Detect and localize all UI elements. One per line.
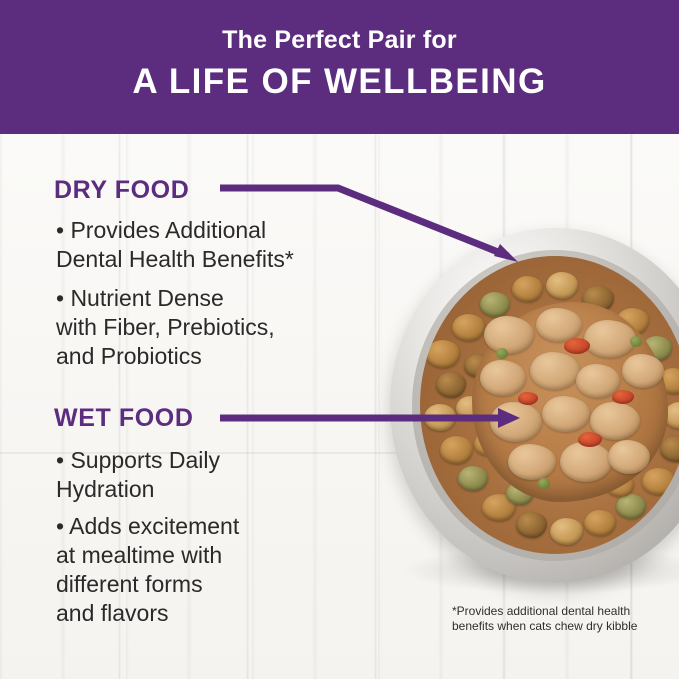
wet-food-chunk [536,308,582,342]
header-subtitle: The Perfect Pair for [0,26,679,55]
wet-food-chunk [542,396,590,432]
pea-piece [496,348,508,359]
pea-piece [538,478,550,489]
wet-food-chunk [484,316,534,354]
kibble-piece [426,340,460,368]
kibble-piece [436,372,466,398]
kibble-piece [458,466,488,491]
kibble-piece [660,436,679,462]
wet-food-chunk [508,444,556,480]
wet-food-chunk [584,320,636,358]
wet-food-chunk [530,352,580,390]
kibble-piece [642,468,675,495]
header-banner: The Perfect Pair for A LIFE OF WELLBEING [0,0,679,134]
product-infographic: The Perfect Pair for A LIFE OF WELLBEING [0,0,679,679]
footnote-text: *Provides additional dental health benef… [452,604,662,634]
wet-food-heading: WET FOOD [54,404,194,433]
header-title: A LIFE OF WELLBEING [0,62,679,102]
kibble-piece [512,276,543,302]
kibble-piece [584,510,616,536]
wet-food-arrow-icon [218,400,528,440]
kibble-piece [452,314,485,341]
carrot-piece [564,338,590,354]
carrot-piece [612,390,634,404]
wet-food-chunk [560,442,612,482]
wet-food-bullet-1: • Supports Daily Hydration [56,446,386,504]
wet-food-bullet-2: • Adds excitement at mealtime with diffe… [56,512,386,628]
pea-piece [630,336,642,347]
dry-food-bullet-2: • Nutrient Dense with Fiber, Prebiotics,… [56,284,386,371]
kibble-piece [616,494,646,519]
kibble-piece [546,272,578,299]
wet-food-chunk [608,440,650,474]
dry-food-arrow-icon [218,168,528,278]
dry-food-heading: DRY FOOD [54,176,189,205]
wet-food-chunk [480,360,526,396]
kibble-piece [480,292,510,317]
wet-food-chunk [622,354,664,388]
kibble-piece [516,512,547,538]
kibble-piece [440,436,473,464]
kibble-piece [550,518,583,545]
